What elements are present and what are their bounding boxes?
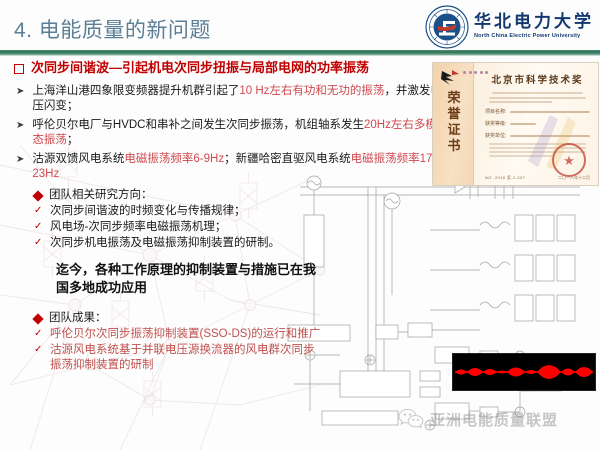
certificate-footer-left: NO. 2018 奖-2-007 [485,175,525,181]
check-bullet-icon: ✓ [34,327,43,342]
research-item: ✓ 风电场-次同步频率电磁振荡机理； [34,220,334,235]
check-bullet-icon: ✓ [34,236,43,251]
bullet-3-seg-1: 电磁振荡频率6-9Hz [124,153,224,165]
university-logo: 华北电力大学 North China Electric Power Univer… [425,3,594,51]
ncepu-emblem-icon [425,5,469,49]
bullet-1-seg-0: 上海洋山港四象限变频器提升机群引起了 [32,85,239,97]
research-item: ✓ 次同步机电振荡及电磁振荡抑制装置的研制。 [34,236,334,251]
research-directions-block: 团队相关研究方向： ✓ 次同步间谐波的时频变化与传播规律； ✓ 风电场-次同步频… [34,188,334,252]
cert-vert-char-0: 荣 [444,91,464,107]
bullet-3-seg-0: 沽源双馈风电系统 [32,153,124,165]
results-item: ✓ 呼伦贝尔次同步振荡抑制装置(SSO-DS)的运行和推广 [34,327,324,342]
arrow-bullet-icon: ➤ [16,121,24,131]
cert-vert-char-1: 誉 [444,107,464,123]
bullet-text-3: 沽源双馈风电系统电磁振荡频率6-9Hz；新疆哈密直驱风电系统电磁振荡频率17-2… [32,152,446,182]
summary-statement: 迄今，各种工作原理的抑制装置与措施已在我国多地成功应用 [56,261,322,298]
bullet-item-1: ➤ 上海洋山港四象限变频器提升机群引起了10 Hz左右有功和无功的振荡，并激发电… [16,84,446,114]
bullet-item-3: ➤ 沽源双馈风电系统电磁振荡频率6-9Hz；新疆哈密直驱风电系统电磁振荡频率17… [16,152,446,182]
bullet-item-2: ➤ 呼伦贝尔电厂与HVDC和串补之间发生次同步振荡，机组轴系发生20Hz左右多模… [16,118,446,148]
research-item-label: 次同步间谐波的时频变化与传播规律； [50,204,246,219]
footer-watermark-text: 亚洲电能质量联盟 [430,409,558,430]
team-results-block: 团队成果： ✓ 呼伦贝尔次同步振荡抑制装置(SSO-DS)的运行和推广 ✓ 沽源… [34,311,324,374]
slide-root: 4. 电能质量的新问题 华北电力大学 North China Electric … [0,0,600,450]
check-bullet-icon: ✓ [34,220,43,235]
results-item: ✓ 沽源风电系统基于并联电压源换流器的风电群次同步振荡抑制装置的研制 [34,343,324,373]
bullet-3-seg-2: ；新疆哈密直驱风电系统 [224,153,351,165]
arrow-bullet-icon: ➤ [16,87,24,97]
research-item-label: 次同步机电振荡及电磁振荡抑制装置的研制。 [50,236,280,251]
diamond-bullet-icon [32,313,43,324]
certificate-paragraph [485,92,590,103]
cert-vert-char-2: 证 [444,123,464,139]
results-title-row: 团队成果： [34,311,324,326]
slide-header: 4. 电能质量的新问题 华北电力大学 North China Electric … [0,0,600,56]
certificate-heading: 北京市科学技术奖 [485,72,590,86]
results-title: 团队成果： [49,311,107,326]
check-bullet-icon: ✓ [34,204,43,219]
red-seal-star-icon: ★ [552,143,586,177]
footer-watermark: 亚洲电能质量联盟 [398,408,558,430]
research-item-label: 风电场-次同步频率电磁振荡机理； [50,220,226,235]
check-bullet-icon: ✓ [34,343,43,358]
logo-chinese-name: 华北电力大学 [474,14,594,31]
bullet-2-seg-2: ； [67,134,79,146]
diamond-bullet-icon [32,190,43,201]
bullet-1-seg-1: 10 Hz左右有功和无功的振荡 [239,85,384,97]
award-certificate-image: 荣 誉 证 书 北京市科学技术奖 项目名称: 获奖等级: 获奖单位: [432,62,599,186]
certificate-label-grade: 获奖等级: [485,120,506,127]
bullet-text-2: 呼伦贝尔电厂与HVDC和串补之间发生次同步振荡，机组轴系发生20Hz左右多模态振… [32,118,446,148]
certificate-vertical-title: 荣 誉 证 书 [444,91,464,154]
bullet-2-seg-0: 呼伦贝尔电厂与HVDC和串补之间发生次同步振荡，机组轴系发生 [32,119,364,131]
lead-heading-row: 次同步间谐波—引起机电次同步扭振与局部电网的功率振荡 [14,60,434,76]
certificate-label-unit: 获奖单位: [485,132,506,139]
research-title-row: 团队相关研究方向： [34,188,334,203]
certificate-footer-right: 二〇一八年十二月 [558,175,590,181]
logo-english-name: North China Electric Power University [474,34,594,40]
square-outline-bullet-icon [14,64,24,74]
results-item-label: 呼伦贝尔次同步振荡抑制装置(SSO-DS)的运行和推广 [50,327,320,342]
arrow-bullet-icon: ➤ [16,155,24,165]
lead-heading-text: 次同步间谐波—引起机电次同步扭振与局部电网的功率振荡 [31,60,369,76]
phoenix-icon [440,69,462,87]
results-item-label: 沽源风电系统基于并联电压源换流器的风电群次同步振荡抑制装置的研制 [50,343,324,373]
bullet-text-1: 上海洋山港四象限变频器提升机群引起了10 Hz左右有功和无功的振荡，并激发电压闪… [32,84,446,114]
wechat-icon [398,408,424,430]
research-item: ✓ 次同步间谐波的时频变化与传播规律； [34,204,334,219]
certificate-label-project: 项目名称: [485,108,506,115]
waveform-inset [452,353,596,391]
research-title: 团队相关研究方向： [49,188,153,203]
page-title: 4. 电能质量的新问题 [14,14,211,44]
cert-vert-char-3: 书 [444,139,464,155]
